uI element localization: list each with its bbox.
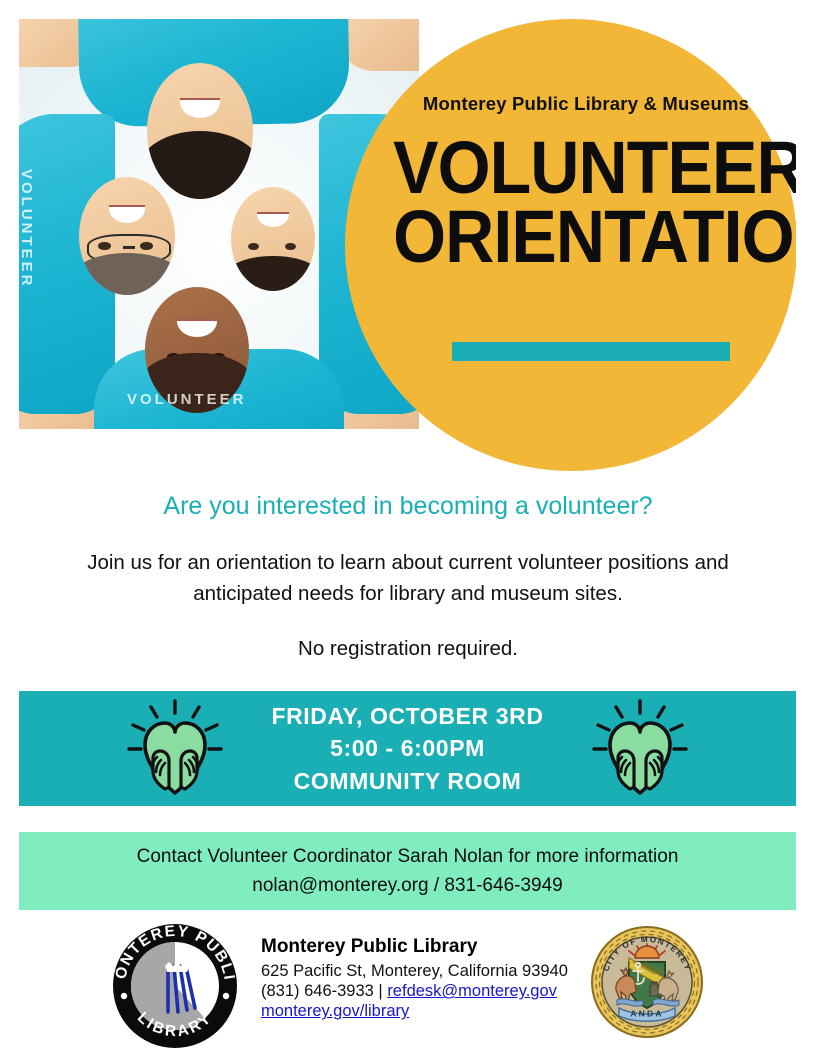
face-mouth [177,319,217,337]
face-mouth [180,98,220,118]
shirt-text: VOLUNTEER [19,169,35,289]
volunteer-face [231,187,315,291]
hero-clip: VOLUNTEER VOLUNTEER VOLUNTEER Monterey P… [19,19,796,471]
title-line-1: VOLUNTEER [393,134,787,203]
face-eye [248,243,259,250]
event-text-block: FRIDAY, OCTOBER 3RD 5:00 - 6:00PM COMMUN… [271,700,543,798]
seal-banner-text: ANDA [630,1009,663,1019]
event-time: 5:00 - 6:00PM [271,732,543,765]
face-eye [98,242,110,250]
footer-address-block: 625 Pacific St, Monterey, California 939… [261,961,581,1021]
contact-coordinator-line: Contact Volunteer Coordinator Sarah Nola… [137,846,679,868]
face-hair [147,131,253,199]
title-underline-bar [452,342,730,361]
page-title: VOLUNTEER ORIENTATION [393,134,787,272]
city-of-monterey-seal: ANDA CITY OF MONTEREY [591,926,703,1038]
contact-email-phone-line: nolan@monterey.org / 831-646-3949 [252,875,562,897]
organization-name: Monterey Public Library & Museums [376,93,796,115]
footer-library-name: Monterey Public Library [261,936,581,958]
volunteer-face [79,177,175,295]
face-mouth [257,212,289,228]
footer-library-info: Monterey Public Library 625 Pacific St, … [261,936,581,1021]
face-eye [285,243,296,250]
face-mouth [109,205,145,222]
footer-phone-email-line: (831) 646-3933 | refdesk@monterey.gov [261,981,581,1001]
event-date: FRIDAY, OCTOBER 3RD [271,700,543,733]
description-paragraph: Join us for an orientation to learn abou… [50,548,766,610]
footer-separator: | [374,982,387,1000]
event-details-banner: FRIDAY, OCTOBER 3RD 5:00 - 6:00PM COMMUN… [19,691,796,806]
shirt-text: VOLUNTEER [127,391,247,408]
face-hair [79,253,175,295]
footer-phone: (831) 646-3933 [261,982,374,1000]
face-eye [140,242,152,250]
footer-email-link[interactable]: refdesk@monterey.gov [387,982,557,1000]
no-registration-note: No registration required. [0,637,816,661]
footer-address: 625 Pacific St, Monterey, California 939… [261,961,581,981]
hero-section: VOLUNTEER VOLUNTEER VOLUNTEER Monterey P… [19,19,796,471]
lead-question: Are you interested in becoming a volunte… [0,492,816,521]
title-line-2: ORIENTATION [393,203,787,272]
heart-in-hands-icon [123,699,227,799]
monterey-public-library-logo: MONTEREY PUBLIC LIBRARY [111,922,239,1050]
event-location: COMMUNITY ROOM [271,765,543,798]
face-hair [231,256,315,291]
heart-in-hands-icon [588,699,692,799]
footer-website-link[interactable]: monterey.gov/library [261,1002,409,1020]
volunteer-face [147,63,253,199]
contact-banner: Contact Volunteer Coordinator Sarah Nola… [19,832,796,910]
footer-website-line: monterey.gov/library [261,1001,581,1021]
footer: MONTEREY PUBLIC LIBRARY Monterey Public … [19,918,796,1050]
